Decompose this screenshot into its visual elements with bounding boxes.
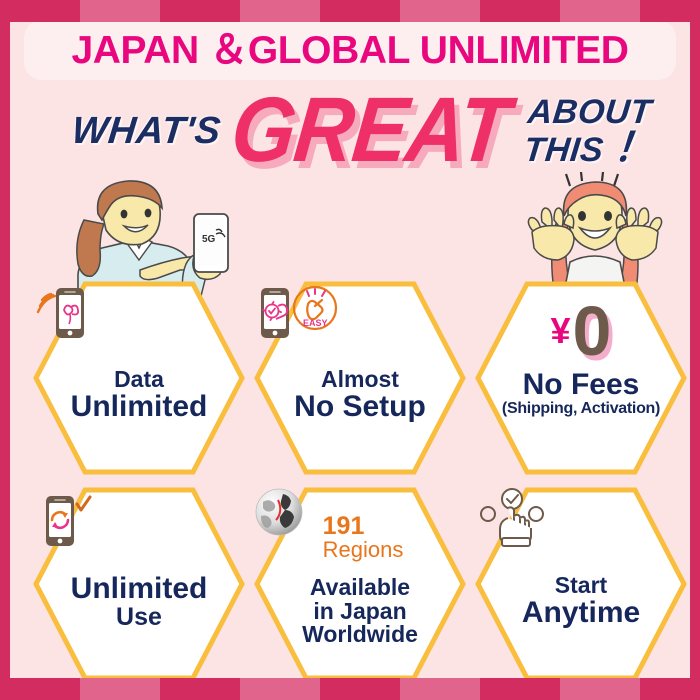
hex-line-3: Use xyxy=(71,605,208,631)
hex-label-almost-no-setup: Almost No Setup xyxy=(294,368,426,423)
svg-text:5G: 5G xyxy=(202,234,216,245)
headline-this-line: THIS！ xyxy=(522,130,656,168)
headline-this: THIS xyxy=(522,131,605,169)
hex-line-2: No Setup xyxy=(294,392,426,423)
hex-label-unlimited-use: Unlimited Use xyxy=(71,574,208,631)
page-title: JAPAN ＆GLOBAL UNLIMITED xyxy=(71,31,628,70)
bottom-stripe-band xyxy=(0,678,700,700)
hex-label-data-unlimited: Data Unlimited xyxy=(71,368,208,423)
headline-about-this: ABOUT THIS！ xyxy=(522,94,660,168)
regions-count-block: 191 Regions xyxy=(323,514,404,561)
hex-line-3: (Shipping, Activation) xyxy=(502,401,660,417)
hex-line-2: Unlimited xyxy=(71,574,208,605)
svg-text:EASY: EASY xyxy=(303,318,328,328)
hex-line-2: Unlimited xyxy=(71,392,208,423)
hex-line-3: Worldwide xyxy=(302,623,418,647)
hex-card-unlimited-use[interactable]: Unlimited Use xyxy=(32,486,246,682)
top-stripe-band xyxy=(0,0,700,22)
hex-card-data-unlimited[interactable]: Data Unlimited xyxy=(32,280,246,476)
title-banner: JAPAN ＆GLOBAL UNLIMITED xyxy=(24,20,676,80)
headline-bang: ！ xyxy=(601,126,656,170)
hex-line-1: Start xyxy=(522,574,640,598)
feature-hex-grid: Data Unlimited xyxy=(10,278,700,688)
hex-line-1: Almost xyxy=(294,368,426,392)
yen-zero-icon: ¥ 0 xyxy=(551,294,612,368)
hex-line-2: Anytime xyxy=(522,598,640,629)
hex-line-2: No Fees xyxy=(502,370,660,401)
hex-line-1: Data xyxy=(71,368,208,392)
hex-card-almost-no-setup[interactable]: EASY Almost No Setup xyxy=(253,280,467,476)
headline-whats: WHAT'S xyxy=(70,110,223,153)
yen-symbol: ¥ xyxy=(551,313,571,349)
zero-number: 0 xyxy=(573,296,612,366)
hex-card-available-worldwide[interactable]: 191 Regions Available in Japan Worldwide xyxy=(253,486,467,682)
hex-label-no-fees: No Fees (Shipping, Activation) xyxy=(502,370,660,417)
hex-line-1: Available xyxy=(302,576,418,600)
regions-label: Regions xyxy=(323,539,404,561)
headline-great: GREAT xyxy=(226,78,513,183)
hex-line-2: in Japan xyxy=(302,600,418,624)
hex-label-available-worldwide: Available in Japan Worldwide xyxy=(302,576,418,647)
hex-card-start-anytime[interactable]: Start Anytime xyxy=(474,486,688,682)
headline-group: WHAT'S GREAT ABOUT THIS！ xyxy=(10,88,700,188)
regions-count: 191 xyxy=(323,514,404,539)
hex-card-no-fees[interactable]: ¥ 0 No Fees (Shipping, Activation) xyxy=(474,280,688,476)
hex-label-start-anytime: Start Anytime xyxy=(522,574,640,629)
poster-root: JAPAN ＆GLOBAL UNLIMITED WHAT'S GREAT ABO… xyxy=(0,0,700,700)
